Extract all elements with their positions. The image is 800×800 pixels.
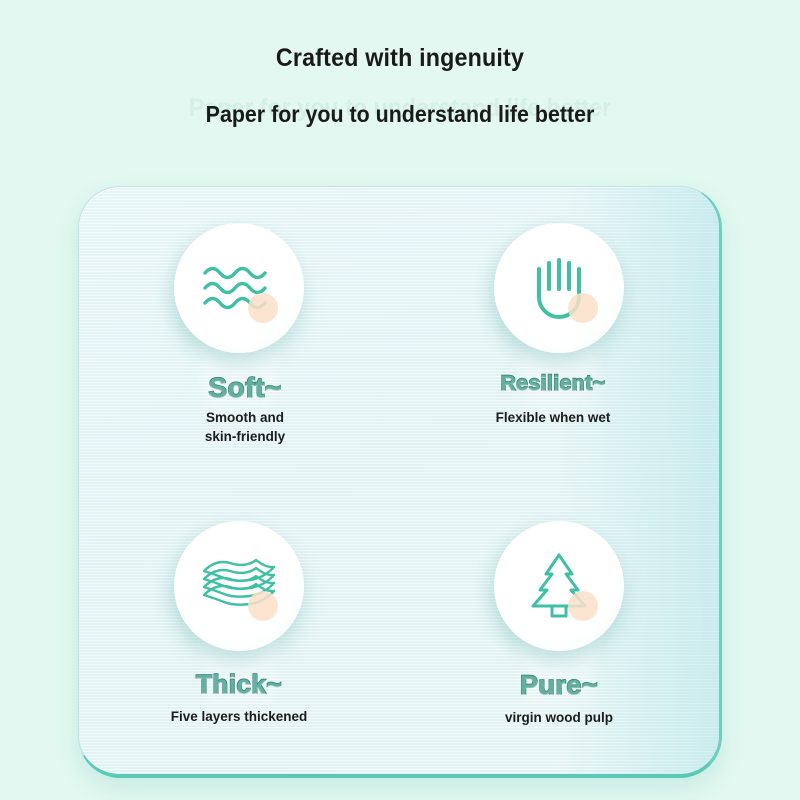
accent-dot: [568, 591, 598, 621]
feature-description-line: virgin wood pulp: [505, 709, 613, 727]
feature-label: Thick~ Five layers thickened: [171, 671, 308, 727]
feature-item-thick[interactable]: Thick~ Five layers thickened: [79, 481, 399, 775]
feature-description: virgin wood pulp: [505, 709, 613, 727]
feature-item-soft[interactable]: Soft~ Smooth and skin-friendly: [79, 187, 399, 481]
page-subtitle: Paper for you to understand life better: [28, 73, 772, 128]
accent-dot: [568, 293, 598, 323]
feature-item-pure[interactable]: Pure~ virgin wood pulp: [399, 481, 719, 775]
icon-circle-pure[interactable]: [494, 521, 624, 651]
feature-label: Resilient~ Flexible when wet: [496, 373, 611, 427]
icon-circle-soft[interactable]: [174, 223, 304, 353]
feature-item-resilient[interactable]: Resilient~ Flexible when wet: [399, 187, 719, 481]
feature-description: Flexible when wet: [496, 409, 611, 427]
feature-grid: Soft~ Smooth and skin-friendly: [79, 187, 719, 774]
feature-label: Pure~ virgin wood pulp: [505, 671, 613, 728]
feature-description-line: skin-friendly: [205, 428, 285, 446]
headings-block: Crafted with ingenuity Paper for you to …: [0, 0, 800, 128]
feature-title: Pure~: [505, 671, 613, 699]
feature-description: Five layers thickened: [171, 708, 308, 726]
feature-description-line: Smooth and: [205, 409, 285, 427]
feature-description: Smooth and skin-friendly: [205, 409, 285, 445]
feature-title: Resilient~: [496, 373, 611, 395]
accent-dot: [248, 293, 278, 323]
feature-label: Soft~ Smooth and skin-friendly: [205, 373, 285, 446]
page-title: Crafted with ingenuity: [28, 0, 772, 73]
accent-dot: [248, 591, 278, 621]
feature-description-line: Five layers thickened: [171, 708, 308, 726]
feature-title: Thick~: [171, 671, 308, 698]
feature-card: Soft~ Smooth and skin-friendly: [78, 186, 722, 778]
feature-description-line: Flexible when wet: [496, 409, 611, 427]
icon-circle-resilient[interactable]: [494, 223, 624, 353]
icon-circle-thick[interactable]: [174, 521, 304, 651]
feature-title: Soft~: [205, 373, 285, 402]
